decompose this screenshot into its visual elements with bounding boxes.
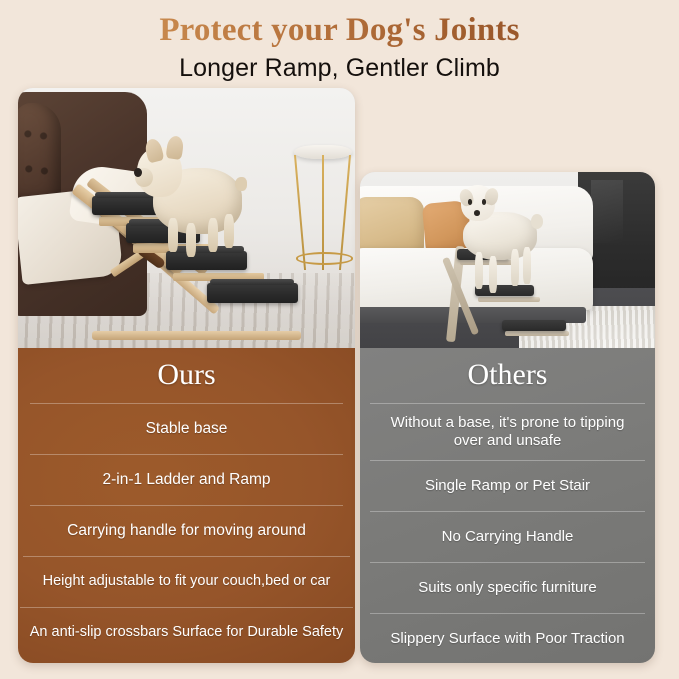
dog-leg-2: [489, 256, 497, 293]
scene-ours: [18, 88, 355, 348]
scene-others: [360, 172, 655, 348]
dog-leg-3: [208, 218, 218, 252]
feature-item: Single Ramp or Pet Stair: [370, 460, 645, 511]
feature-item: No Carrying Handle: [370, 511, 645, 562]
panel-heading-others: Others: [360, 348, 655, 403]
page-title: Protect your Dog's Joints: [0, 0, 679, 48]
dog-leg-1: [168, 218, 178, 252]
feature-list-ours: Stable base 2-in-1 Ladder and Ramp Carry…: [18, 403, 355, 658]
dog-leg-4: [523, 247, 531, 284]
dog-nose: [134, 168, 142, 177]
dog-nose: [474, 210, 480, 215]
side-table: [294, 145, 351, 270]
feature-panel-others: Others Without a base, it's prone to tip…: [360, 348, 655, 663]
feature-panel-ours: Ours Stable base 2-in-1 Ladder and Ramp …: [18, 348, 355, 663]
feature-item: Without a base, it's prone to tipping ov…: [370, 403, 645, 460]
stairs-tread-3: [502, 320, 567, 331]
step-tread-4: [207, 283, 298, 303]
infographic-root: Protect your Dog's Joints Longer Ramp, G…: [0, 0, 679, 679]
panel-heading-ours: Ours: [18, 348, 355, 403]
dog-leg-4: [224, 214, 234, 248]
comparison-card-ours: Ours Stable base 2-in-1 Ladder and Ramp …: [18, 88, 355, 663]
feature-item: An anti-slip crossbars Surface for Durab…: [20, 607, 353, 658]
feature-item: 2-in-1 Ladder and Ramp: [30, 454, 343, 505]
dog-eye-right: [482, 199, 487, 204]
feature-item: Slippery Surface with Poor Traction: [370, 613, 645, 663]
dog-french-bulldog: [139, 143, 250, 257]
dog-poodle: [449, 186, 549, 295]
page-subtitle: Longer Ramp, Gentler Climb: [0, 48, 679, 83]
stairs-wood-3: [505, 331, 570, 336]
recliner-backrest: [18, 103, 61, 206]
dog-leg-1: [475, 252, 483, 289]
product-photo-others: [360, 172, 655, 348]
tufting-buttons: [18, 103, 61, 206]
product-photo-ours: [18, 88, 355, 348]
comparison-card-others: Others Without a base, it's prone to tip…: [360, 172, 655, 663]
dog-tail: [531, 214, 543, 228]
feature-list-others: Without a base, it's prone to tipping ov…: [360, 403, 655, 663]
side-table-ring: [296, 252, 354, 265]
feature-item: Carrying handle for moving around: [30, 505, 343, 556]
feature-item: Suits only specific furniture: [370, 562, 645, 613]
stairs-wood-2: [478, 297, 540, 302]
dog-tail: [235, 177, 247, 191]
feature-item: Stable base: [30, 403, 343, 454]
dog-leg-2: [186, 223, 196, 257]
feature-item: Height adjustable to fit your couch,bed …: [23, 556, 350, 607]
dog-leg-3: [511, 249, 519, 286]
header: Protect your Dog's Joints Longer Ramp, G…: [0, 0, 679, 82]
ramp-base-bar: [92, 331, 301, 340]
dog-eye-left: [468, 199, 473, 204]
